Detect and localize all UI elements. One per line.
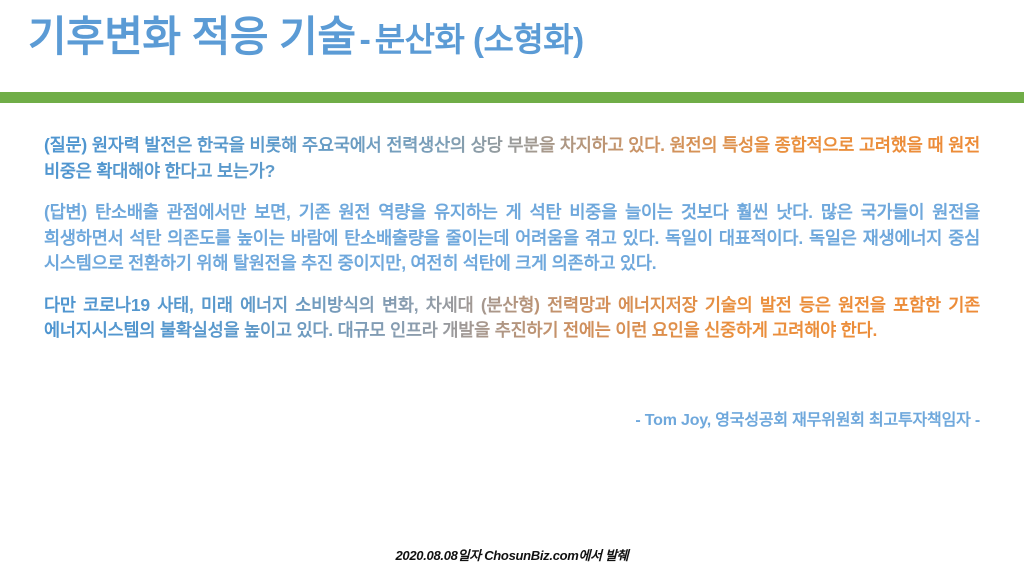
page-title-subtitle: 분산화 (소형화) <box>375 21 584 58</box>
page-title-main: 기후변화 적응 기술 <box>28 13 355 60</box>
paragraph-question: (질문) 원자력 발전은 한국을 비롯해 주요국에서 전력생산의 상당 부분을 … <box>44 133 980 184</box>
paragraph-closing: 다만 코로나19 사태, 미래 에너지 소비방식의 변화, 차세대 (분산형) … <box>44 293 980 344</box>
slide-header: 기후변화 적응 기술-분산화 (소형화) <box>0 0 1024 92</box>
source-footnote: 2020.08.08일자 ChosunBiz.com에서 발췌 <box>0 545 1024 564</box>
header-divider-rule <box>0 92 1024 103</box>
slide-body: (질문) 원자력 발전은 한국을 비롯해 주요국에서 전력생산의 상당 부분을 … <box>44 133 980 344</box>
paragraph-answer: (답변) 탄소배출 관점에서만 보면, 기존 원전 역량을 유지하는 게 석탄 … <box>44 200 980 277</box>
page-title-separator: - <box>355 21 374 59</box>
page-title: 기후변화 적응 기술-분산화 (소형화) <box>28 16 584 58</box>
slide: 기후변화 적응 기술-분산화 (소형화) (질문) 원자력 발전은 한국을 비롯… <box>0 0 1024 576</box>
attribution-line: - Tom Joy, 영국성공회 재무위원회 최고투자책임자 - <box>635 406 980 430</box>
